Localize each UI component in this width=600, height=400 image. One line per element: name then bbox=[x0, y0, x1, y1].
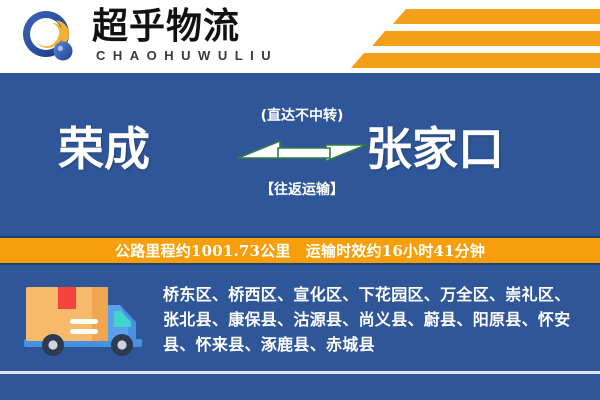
roundtrip-note: 【往返运输】 bbox=[238, 179, 366, 199]
banner-header: 超乎物流 CHAOHUWULIU bbox=[0, 0, 600, 73]
direct-note: (直达不中转) bbox=[238, 105, 366, 125]
coverage-districts-text: 桥东区、桥西区、宣化区、下花园区、万全区、崇礼区、张北县、康保县、沽源县、尚义县… bbox=[163, 282, 581, 357]
brand-name-cn: 超乎物流 bbox=[92, 6, 240, 48]
bottom-divider bbox=[0, 371, 600, 374]
stripe-3 bbox=[351, 53, 600, 68]
delivery-truck-icon bbox=[22, 281, 146, 359]
double-headed-arrow-icon bbox=[234, 133, 370, 169]
orange-speed-stripes-icon bbox=[342, 6, 600, 66]
route-row: 荣成 (直达不中转) 【往返运输】 张家口 bbox=[0, 103, 600, 203]
distance-and-duration-text: 公路里程约1001.73公里 运输时效约16小时41分钟 bbox=[115, 240, 485, 261]
stripe-1 bbox=[393, 9, 600, 24]
destination-city: 张家口 bbox=[366, 121, 504, 177]
route-middle: (直达不中转) 【往返运输】 bbox=[238, 103, 366, 203]
logistics-route-banner: 超乎物流 CHAOHUWULIU 荣成 (直达不中转) 【 bbox=[0, 0, 600, 400]
info-bar: 公路里程约1001.73公里 运输时效约16小时41分钟 bbox=[0, 236, 600, 265]
brand-name-en: CHAOHUWULIU bbox=[96, 48, 278, 63]
circle-crescent-logo-icon bbox=[22, 10, 76, 64]
stripe-2 bbox=[372, 31, 600, 46]
origin-city: 荣成 bbox=[58, 121, 150, 177]
